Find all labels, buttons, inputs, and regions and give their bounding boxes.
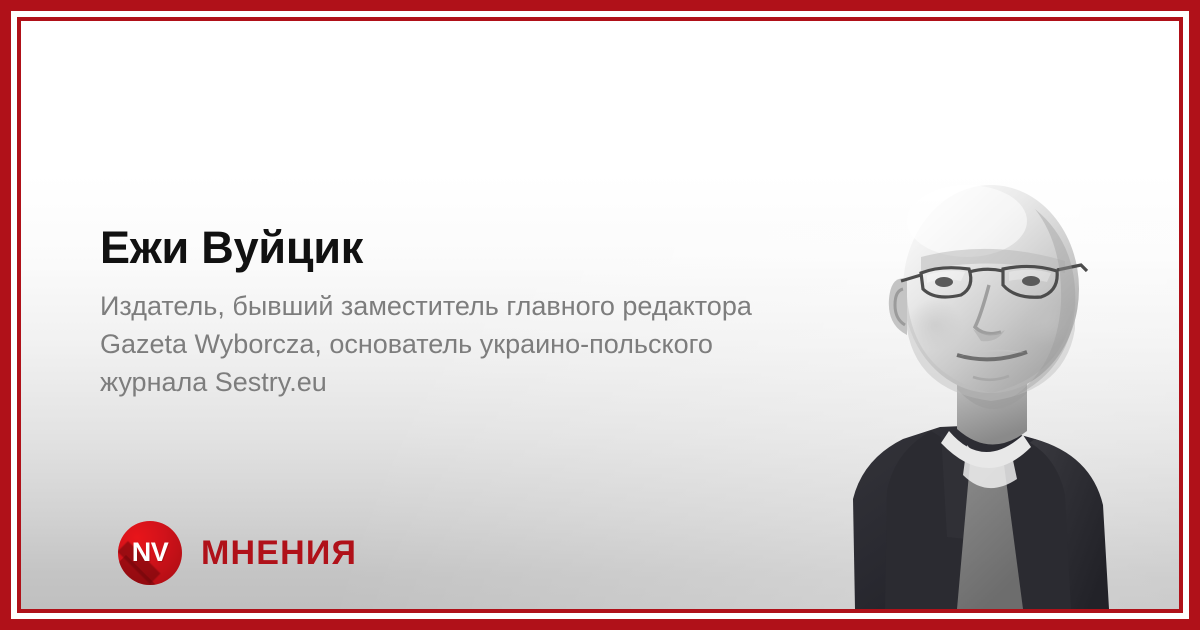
card-surface: Ежи Вуйцик Издатель, бывший заместитель … <box>21 21 1179 609</box>
nv-circle-logo-icon[interactable]: NV <box>118 521 182 585</box>
author-text-block: Ежи Вуйцик Издатель, бывший заместитель … <box>100 224 800 401</box>
opinion-card: Ежи Вуйцик Издатель, бывший заместитель … <box>0 0 1200 630</box>
author-bio: Издатель, бывший заместитель главного ре… <box>100 287 790 401</box>
section-label: МНЕНИЯ <box>201 536 357 570</box>
nv-logo-label: NV <box>118 521 182 585</box>
brand-row[interactable]: NV МНЕНИЯ <box>118 521 357 585</box>
page-title: Ежи Вуйцик <box>100 224 800 271</box>
